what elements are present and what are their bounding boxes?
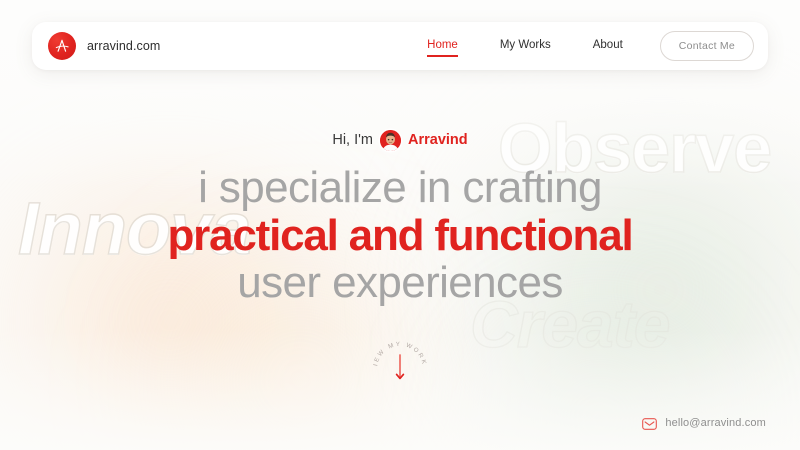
nav-link-my-works[interactable]: My Works — [479, 40, 572, 52]
headline-line-1: i specialize in crafting — [167, 166, 632, 210]
hero-name-label: Arravind — [408, 132, 468, 148]
greeting-prefix-label: Hi, I'm — [332, 132, 373, 148]
nav-link-home[interactable]: Home — [406, 40, 479, 52]
arrow-down-icon — [397, 355, 404, 378]
brand-name-label: arravind.com — [87, 39, 160, 53]
nav-link-about[interactable]: About — [572, 40, 644, 52]
arravind-a-logo-icon — [48, 32, 76, 60]
hero-section: Hi, I'm Arravind i specialize in craftin… — [0, 128, 800, 399]
brand-home-link[interactable]: arravind.com — [48, 32, 160, 60]
person-avatar — [380, 130, 401, 151]
email-address-label: hello@arravind.com — [665, 417, 766, 429]
headline-line-2: practical and functional — [167, 214, 632, 258]
hero-greeting: Hi, I'm Arravind — [332, 128, 467, 152]
headline-line-3: user experiences — [167, 261, 632, 305]
contact-me-button[interactable]: Contact Me — [660, 31, 754, 61]
nav-links: Home My Works About Contact Me — [406, 31, 754, 61]
view-my-works-scroll-indicator[interactable]: VIEW MY WORKS — [367, 333, 433, 399]
envelope-icon — [642, 417, 657, 429]
contact-email-link[interactable]: hello@arravind.com — [642, 417, 766, 429]
top-navbar: arravind.com Home My Works About Contact… — [32, 22, 768, 70]
hero-headline: i specialize in crafting practical and f… — [167, 166, 632, 305]
scroll-indicator-circular-label: VIEW MY WORKS — [367, 333, 428, 367]
